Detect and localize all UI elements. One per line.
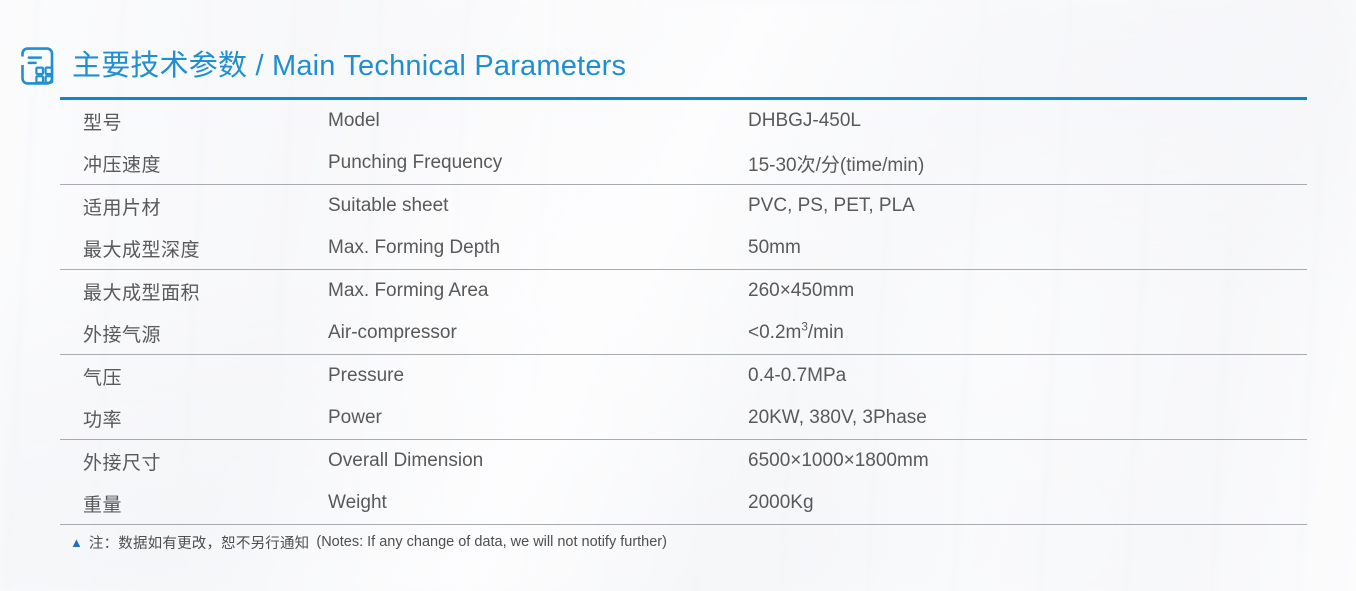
row-value: 6500×1000×1800mm: [748, 450, 1307, 472]
row-label-en: Max. Forming Area: [328, 280, 748, 302]
spec-document-grid-icon: [20, 46, 58, 86]
table-row: 冲压速度 Punching Frequency 15-30次/分(time/mi…: [60, 142, 1307, 184]
row-label-cn: 外接尺寸: [60, 448, 328, 475]
table-row: 外接尺寸 Overall Dimension 6500×1000×1800mm: [60, 440, 1307, 482]
row-label-en: Suitable sheet: [328, 195, 748, 217]
row-label-cn: 功率: [60, 405, 328, 432]
row-label-en: Max. Forming Depth: [328, 237, 748, 259]
table-row: 气压 Pressure 0.4-0.7MPa: [60, 355, 1307, 397]
row-value-main: <0.2m: [748, 322, 801, 343]
section-header: 主要技术参数 / Main Technical Parameters: [20, 46, 626, 86]
row-label-cn: 型号: [60, 108, 328, 135]
row-value: PVC, PS, PET, PLA: [748, 195, 1307, 217]
row-value: <0.2m3/min: [748, 322, 1307, 344]
row-label-cn: 重量: [60, 490, 328, 517]
footer-note-en: (Notes: If any change of data, we will n…: [316, 534, 667, 550]
row-value-tail: /min: [808, 322, 844, 343]
table-row: 最大成型面积 Max. Forming Area 260×450mm: [60, 270, 1307, 312]
row-label-cn: 适用片材: [60, 193, 328, 220]
footer-note: ▲ 注：数据如有更改，恕不另行通知 (Notes: If any change …: [60, 525, 1307, 559]
row-value: 50mm: [748, 237, 1307, 259]
table-row: 重量 Weight 2000Kg: [60, 482, 1307, 524]
row-label-en: Model: [328, 110, 748, 132]
row-value: 260×450mm: [748, 280, 1307, 302]
row-value: 20KW, 380V, 3Phase: [748, 407, 1307, 429]
row-label-en: Air-compressor: [328, 322, 748, 344]
page-title: 主要技术参数 / Main Technical Parameters: [72, 52, 626, 81]
row-label-en: Pressure: [328, 365, 748, 387]
row-label-cn: 冲压速度: [60, 150, 328, 177]
triangle-icon: ▲: [70, 536, 83, 549]
row-label-en: Power: [328, 407, 748, 429]
table-row: 适用片材 Suitable sheet PVC, PS, PET, PLA: [60, 185, 1307, 227]
row-value: DHBGJ-450L: [748, 110, 1307, 132]
row-label-en: Weight: [328, 492, 748, 514]
spec-sheet-page: 主要技术参数 / Main Technical Parameters 型号 Mo…: [0, 0, 1356, 591]
row-label-en: Overall Dimension: [328, 450, 748, 472]
row-label-cn: 最大成型面积: [60, 278, 328, 305]
row-label-cn: 最大成型深度: [60, 235, 328, 262]
table-row: 外接气源 Air-compressor <0.2m3/min: [60, 312, 1307, 354]
row-label-cn: 外接气源: [60, 320, 328, 347]
table-row: 最大成型深度 Max. Forming Depth 50mm: [60, 227, 1307, 269]
table-row: 功率 Power 20KW, 380V, 3Phase: [60, 397, 1307, 439]
row-value: 2000Kg: [748, 492, 1307, 514]
spec-table: 型号 Model DHBGJ-450L 冲压速度 Punching Freque…: [60, 97, 1307, 559]
row-value: 0.4-0.7MPa: [748, 365, 1307, 387]
row-value: 15-30次/分(time/min): [748, 150, 1307, 177]
table-row: 型号 Model DHBGJ-450L: [60, 100, 1307, 142]
row-label-cn: 气压: [60, 363, 328, 390]
row-label-en: Punching Frequency: [328, 152, 748, 174]
footer-note-cn: 注：数据如有更改，恕不另行通知: [89, 532, 310, 553]
